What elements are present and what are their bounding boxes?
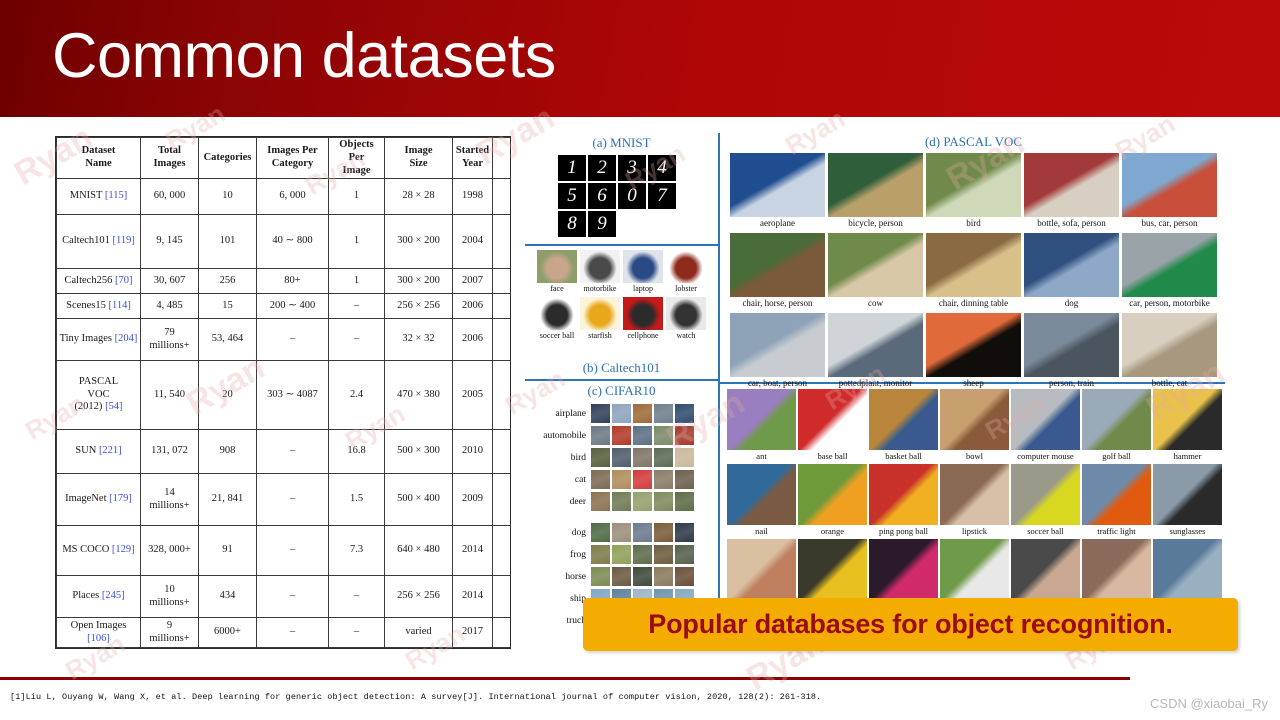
caltech101-label: starfish [580,331,620,341]
ilsvrc-thumbnail [727,539,796,600]
cifar10-sample-thumbnail [633,470,652,489]
cifar10-sample-thumbnail [633,426,652,445]
cell-notes [493,361,512,430]
cell-categories: 256 [199,269,257,294]
pascal-voc-item: chair, dinning table [926,233,1021,309]
cell-total-images: 10millions+ [141,576,199,618]
ilsvrc-item: hammer [1153,389,1222,461]
pascal-voc-item: bird [926,153,1021,229]
ilsvrc-thumbnail [940,389,1009,450]
ilsvrc-label: golf ball [1082,451,1151,461]
cifar10-sample-thumbnail [675,426,694,445]
cell-image-size: 32 × 32 [385,319,453,361]
cell-dataset-name: ImageNet [179] [57,473,141,525]
panel-pascal-voc: (d) PASCAL VOC aeroplanebicycle, personb… [722,133,1225,383]
cell-started-year: 2004 [453,214,493,268]
pascal-voc-thumbnail [730,153,825,217]
ilsvrc-thumbnail [1153,389,1222,450]
cell-objects-per-image: 2.4 [329,361,385,430]
datasets-table-figure: DatasetNameTotalImagesCategoriesImages P… [55,136,511,649]
caltech101-label: motorbike [580,284,620,294]
ilsvrc-label: bowl [940,451,1009,461]
ilsvrc-item [1082,539,1151,601]
ilsvrc-item [1153,539,1222,601]
caltech101-label: lobster [666,284,706,294]
ilsvrc-item: traffic light [1082,464,1151,536]
caltech101-label: face [537,284,577,294]
cifar10-sample-thumbnail [612,448,631,467]
pascal-voc-label: chair, horse, person [730,298,825,309]
mnist-digit-cell: 4 [648,155,676,181]
pascal-voc-thumbnail [1024,313,1119,377]
caltech101-label: cellphone [623,331,663,341]
cifar10-sample-thumbnail [612,523,631,542]
cell-objects-per-image: 7.3 [329,526,385,576]
cifar10-sample-thumbnail [612,426,631,445]
cifar10-class-label: deer [527,497,591,507]
ilsvrc-item: ping pong ball [869,464,938,536]
ilsvrc-item [1011,539,1080,601]
cifar10-sample-thumbnail [633,448,652,467]
ilsvrc-thumbnail [1082,389,1151,450]
cell-categories: 6000+ [199,618,257,648]
ilsvrc-thumb-grid: antbase ballbasket ballbowlcomputer mous… [727,389,1222,601]
cifar10-class-row: airplane [527,403,717,424]
callout-text: Popular databases for object recognition… [648,609,1172,640]
cell-categories: 21, 841 [199,473,257,525]
cifar10-sample-thumbnail [612,470,631,489]
caltech101-caption: (b) Caltech101 [525,360,718,376]
ilsvrc-thumbnail [1011,389,1080,450]
mnist-digit-cell: 7 [648,183,676,209]
pascal-voc-thumbnail [926,153,1021,217]
cifar10-sample-thumbnail [612,545,631,564]
pascal-voc-item: bottle, cat [1122,313,1217,389]
cifar10-sample-thumbnail [591,404,610,423]
pascal-voc-label: chair, dinning table [926,298,1021,309]
datasets-table: DatasetNameTotalImagesCategoriesImages P… [56,137,511,648]
cell-images-per-category: – [257,319,329,361]
cell-image-size: 640 × 480 [385,526,453,576]
cifar10-sample-strip [591,426,694,445]
cifar10-sample-thumbnail [654,545,673,564]
table-col-header: DatasetName [57,138,141,179]
ilsvrc-item: bowl [940,389,1009,461]
table-col-header: StartedYear [453,138,493,179]
cell-notes [493,526,512,576]
cell-dataset-name: Places [245] [57,576,141,618]
cell-notes [493,430,512,474]
cifar10-sample-thumbnail [654,448,673,467]
ilsvrc-thumbnail [1153,539,1222,600]
cifar10-sample-thumbnail [591,492,610,511]
citation-text: [1]Liu L, Ouyang W, Wang X, et al. Deep … [10,692,821,702]
caltech101-item: cellphone [623,297,663,341]
cell-image-size: varied [385,618,453,648]
ilsvrc-label: traffic light [1082,526,1151,536]
pascal-voc-item: car, boat, person [730,313,825,389]
cell-objects-per-image: – [329,319,385,361]
pascal-voc-label: bicycle, person [828,218,923,229]
table-col-header: Categories [199,138,257,179]
cell-dataset-name: PASCALVOC(2012) [54] [57,361,141,430]
ilsvrc-item: base ball [798,389,867,461]
cell-objects-per-image: – [329,618,385,648]
pascal-voc-thumbnail [1122,313,1217,377]
cell-images-per-category: – [257,576,329,618]
cell-image-size: 500 × 400 [385,473,453,525]
ilsvrc-thumbnail [1011,539,1080,600]
mnist-digit-cell: 2 [588,155,616,181]
ilsvrc-item: lipstick [940,464,1009,536]
cell-notes [493,179,512,215]
ilsvrc-label: soccer ball [1011,526,1080,536]
cell-images-per-category: 303 ∼ 4087 [257,361,329,430]
mnist-digit-grid: 1234560789 [558,155,682,237]
pascal-voc-item: dog [1024,233,1119,309]
ilsvrc-thumbnail [940,539,1009,600]
cell-dataset-name: Caltech101 [119] [57,214,141,268]
cifar10-sample-thumbnail [591,448,610,467]
pascal-voc-label: bird [926,218,1021,229]
cell-image-size: 300 × 200 [385,269,453,294]
cell-image-size: 470 × 380 [385,361,453,430]
ilsvrc-item: computer mouse [1011,389,1080,461]
panel-caltech101: facemotorbikelaptoplobstersoccer ballsta… [525,246,718,378]
cell-objects-per-image: 1.5 [329,473,385,525]
cell-objects-per-image: 16.8 [329,430,385,474]
cifar10-class-label: truck [527,616,591,626]
ilsvrc-item [869,539,938,601]
pascal-voc-thumb-grid: aeroplanebicycle, personbirdbottle, sofa… [730,153,1217,389]
cell-images-per-category: – [257,526,329,576]
pascal-voc-thumbnail [828,313,923,377]
cell-notes [493,576,512,618]
cifar10-sample-thumbnail [612,404,631,423]
cifar10-caption: (c) CIFAR10 [525,383,718,399]
cifar10-sample-strip [591,492,694,511]
caltech101-thumbnail [580,250,620,283]
cell-dataset-name: MS COCO [129] [57,526,141,576]
pascal-voc-thumbnail [730,233,825,297]
pascal-voc-caption: (d) PASCAL VOC [722,134,1225,150]
cell-images-per-category: – [257,473,329,525]
cell-dataset-name: Open Images [106] [57,618,141,648]
cell-total-images: 14millions+ [141,473,199,525]
cell-dataset-name: Scenes15 [114] [57,294,141,319]
datasets-samples-figure: (a) MNIST 1234560789 facemotorbikelaptop… [525,133,1225,638]
table-row: Open Images [106]9millions+6000+––varied… [57,618,512,648]
cifar10-sample-strip [591,448,694,467]
cell-images-per-category: 80+ [257,269,329,294]
pascal-voc-item: person, train [1024,313,1119,389]
cifar10-sample-thumbnail [633,492,652,511]
caltech101-thumb-grid: facemotorbikelaptoplobstersoccer ballsta… [537,250,709,341]
cifar10-sample-thumbnail [591,470,610,489]
ilsvrc-item: nail [727,464,796,536]
pascal-voc-item: bus, car, person [1122,153,1217,229]
pascal-voc-item: bicycle, person [828,153,923,229]
cifar10-sample-thumbnail [675,545,694,564]
caltech101-thumbnail [537,250,577,283]
mnist-digit-cell: 5 [558,183,586,209]
pascal-voc-thumbnail [926,313,1021,377]
cell-image-size: 256 × 256 [385,294,453,319]
ilsvrc-thumbnail [798,539,867,600]
table-col-header: TotalImages [141,138,199,179]
cifar10-sample-thumbnail [654,492,673,511]
slide-header-banner: Common datasets [0,0,1280,117]
mnist-digit-cell: 9 [588,211,616,237]
caltech101-label: laptop [623,284,663,294]
ilsvrc-item: orange [798,464,867,536]
cell-started-year: 2006 [453,294,493,319]
cell-total-images: 9millions+ [141,618,199,648]
cifar10-sample-thumbnail [675,523,694,542]
ilsvrc-thumbnail [1082,464,1151,525]
cifar10-sample-thumbnail [591,567,610,586]
caltech101-thumbnail [666,297,706,330]
ilsvrc-thumbnail [1153,464,1222,525]
cifar10-sample-strip [591,404,694,423]
table-row: Scenes15 [114]4, 48515200 ∼ 400–256 × 25… [57,294,512,319]
table-row: MS COCO [129]328, 000+91–7.3640 × 480201… [57,526,512,576]
cifar10-sample-thumbnail [675,567,694,586]
pascal-voc-thumbnail [828,233,923,297]
cifar10-sample-thumbnail [654,404,673,423]
cell-objects-per-image: 1 [329,179,385,215]
cell-started-year: 1998 [453,179,493,215]
pascal-voc-thumbnail [1122,233,1217,297]
cifar10-class-row: deer [527,491,717,512]
cell-notes [493,473,512,525]
cifar10-sample-thumbnail [654,470,673,489]
cell-categories: 434 [199,576,257,618]
cell-started-year: 2006 [453,319,493,361]
ilsvrc-thumbnail [1011,464,1080,525]
ilsvrc-item: golf ball [1082,389,1151,461]
pascal-voc-item: car, person, motorbike [1122,233,1217,309]
cell-total-images: 131, 072 [141,430,199,474]
table-row: PASCALVOC(2012) [54]11, 54020303 ∼ 40872… [57,361,512,430]
cell-total-images: 4, 485 [141,294,199,319]
cell-images-per-category: – [257,430,329,474]
pascal-voc-label: aeroplane [730,218,825,229]
pascal-voc-thumbnail [730,313,825,377]
caltech101-thumbnail [537,297,577,330]
cifar10-sample-thumbnail [675,470,694,489]
cifar10-sample-thumbnail [612,492,631,511]
cell-images-per-category: – [257,618,329,648]
cifar10-class-label: airplane [527,409,591,419]
caltech101-item: laptop [623,250,663,294]
cifar10-sample-thumbnail [654,567,673,586]
cifar10-class-row: frog [527,544,717,565]
cifar10-class-label: frog [527,550,591,560]
pascal-voc-item: pottedplant, monitor [828,313,923,389]
table-col-header: ImageSize [385,138,453,179]
table-row: Places [245]10millions+434––256 × 256201… [57,576,512,618]
ilsvrc-thumbnail [869,539,938,600]
cell-started-year: 2017 [453,618,493,648]
ilsvrc-item: basket ball [869,389,938,461]
pascal-voc-item: bottle, sofa, person [1024,153,1119,229]
cell-categories: 53, 464 [199,319,257,361]
cifar10-sample-thumbnail [633,404,652,423]
cell-total-images: 30, 607 [141,269,199,294]
table-row: SUN [221]131, 072908–16.8500 × 3002010 [57,430,512,474]
cifar10-sample-thumbnail [675,492,694,511]
cifar10-class-row: dog [527,522,717,543]
cell-started-year: 2007 [453,269,493,294]
ilsvrc-thumbnail [798,464,867,525]
cell-started-year: 2014 [453,576,493,618]
ilsvrc-thumbnail [869,389,938,450]
pascal-voc-item: chair, horse, person [730,233,825,309]
cifar10-sample-strip [591,545,694,564]
table-col-header-notes [493,138,512,179]
caltech101-label: soccer ball [537,331,577,341]
cifar10-class-row: automobile [527,425,717,446]
cifar10-class-label: bird [527,453,591,463]
cell-objects-per-image: – [329,294,385,319]
cell-total-images: 9, 145 [141,214,199,268]
pascal-voc-label: dog [1024,298,1119,309]
cifar10-class-label: automobile [527,431,591,441]
table-row: ImageNet [179]14millions+21, 841–1.5500 … [57,473,512,525]
cifar10-class-label: ship [527,594,591,604]
ilsvrc-label: sunglasses [1153,526,1222,536]
ilsvrc-label: hammer [1153,451,1222,461]
ilsvrc-label: base ball [798,451,867,461]
table-col-header: Objects PerImage [329,138,385,179]
pascal-voc-thumbnail [1024,153,1119,217]
page-title: Common datasets [52,14,556,98]
cell-image-size: 28 × 28 [385,179,453,215]
footer-divider-rule [0,677,1130,680]
ilsvrc-thumbnail [940,464,1009,525]
pascal-voc-label: bottle, sofa, person [1024,218,1119,229]
cell-dataset-name: Tiny Images [204] [57,319,141,361]
mnist-caption: (a) MNIST [525,135,718,151]
ilsvrc-item: soccer ball [1011,464,1080,536]
cifar10-sample-strip [591,523,694,542]
panel-mnist: (a) MNIST 1234560789 [525,133,718,243]
ilsvrc-label: lipstick [940,526,1009,536]
cell-categories: 15 [199,294,257,319]
cell-notes [493,214,512,268]
pascal-voc-thumbnail [828,153,923,217]
caltech101-thumbnail [623,250,663,283]
cell-total-images: 79millions+ [141,319,199,361]
pascal-voc-label: car, person, motorbike [1122,298,1217,309]
cifar10-sample-thumbnail [654,523,673,542]
cell-image-size: 256 × 256 [385,576,453,618]
mnist-digit-cell: 1 [558,155,586,181]
ilsvrc-thumbnail [727,464,796,525]
ilsvrc-label: computer mouse [1011,451,1080,461]
cifar10-sample-strip [591,567,694,586]
cifar10-sample-thumbnail [633,567,652,586]
caltech101-item: motorbike [580,250,620,294]
pascal-voc-label: bus, car, person [1122,218,1217,229]
ilsvrc-thumbnail [798,389,867,450]
cell-categories: 908 [199,430,257,474]
pascal-voc-label: cow [828,298,923,309]
pascal-voc-item: sheep [926,313,1021,389]
caltech101-item: watch [666,297,706,341]
cifar10-class-row: horse [527,566,717,587]
cifar10-class-label: horse [527,572,591,582]
ilsvrc-item [798,539,867,601]
pascal-voc-thumbnail [1122,153,1217,217]
ilsvrc-label: orange [798,526,867,536]
mnist-digit-cell: 0 [618,183,646,209]
cell-categories: 91 [199,526,257,576]
cifar10-class-row: bird [527,447,717,468]
cell-notes [493,294,512,319]
cifar10-class-label: dog [527,528,591,538]
cell-images-per-category: 6, 000 [257,179,329,215]
cell-categories: 20 [199,361,257,430]
ilsvrc-item: sunglasses [1153,464,1222,536]
cifar10-sample-thumbnail [675,448,694,467]
mnist-digit-cell: 6 [588,183,616,209]
cifar10-sample-thumbnail [675,404,694,423]
caltech101-thumbnail [580,297,620,330]
ilsvrc-thumbnail [727,389,796,450]
table-col-header: Images PerCategory [257,138,329,179]
ilsvrc-thumbnail [1082,539,1151,600]
cell-notes [493,269,512,294]
cell-notes [493,319,512,361]
caltech101-thumbnail [666,250,706,283]
ilsvrc-thumbnail [869,464,938,525]
cell-dataset-name: SUN [221] [57,430,141,474]
cifar10-sample-strip [591,470,694,489]
cifar10-sample-thumbnail [591,426,610,445]
cell-total-images: 11, 540 [141,361,199,430]
ilsvrc-label: nail [727,526,796,536]
pascal-voc-thumbnail [1024,233,1119,297]
csdn-watermark: CSDN @xiaobai_Ry [1150,696,1268,711]
caltech101-item: soccer ball [537,297,577,341]
ilsvrc-label: ant [727,451,796,461]
ilsvrc-item [940,539,1009,601]
cell-image-size: 500 × 300 [385,430,453,474]
cell-objects-per-image: 1 [329,214,385,268]
caltech101-item: starfish [580,297,620,341]
table-row: Caltech256 [70]30, 60725680+1300 × 20020… [57,269,512,294]
cell-categories: 10 [199,179,257,215]
cell-images-per-category: 40 ∼ 800 [257,214,329,268]
cell-total-images: 60, 000 [141,179,199,215]
ilsvrc-item: ant [727,389,796,461]
caltech101-thumbnail [623,297,663,330]
table-header-row: DatasetNameTotalImagesCategoriesImages P… [57,138,512,179]
caltech101-item: lobster [666,250,706,294]
cell-objects-per-image: – [329,576,385,618]
table-row: MNIST [115]60, 000106, 000128 × 281998 [57,179,512,215]
cell-total-images: 328, 000+ [141,526,199,576]
pascal-voc-item: aeroplane [730,153,825,229]
caltech101-label: watch [666,331,706,341]
table-row: Tiny Images [204]79millions+53, 464––32 … [57,319,512,361]
ilsvrc-label: basket ball [869,451,938,461]
cell-objects-per-image: 1 [329,269,385,294]
pascal-voc-item: cow [828,233,923,309]
cell-started-year: 2009 [453,473,493,525]
